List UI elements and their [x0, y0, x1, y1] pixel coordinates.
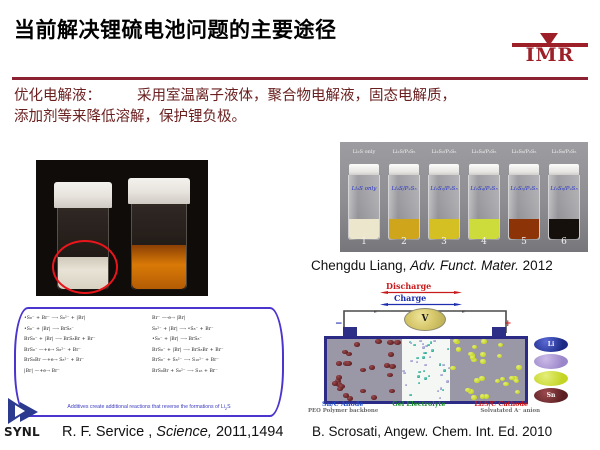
electron-label-right: e⁻ [462, 309, 468, 315]
reaction-equation: BrS₈Br —+e→ S₈²⁻ + Br⁻ [24, 356, 146, 367]
particle [336, 375, 342, 380]
reaction-columns: •S₈⁻ + Br⁻ ⟶ S₈²⁻ + |Br| •S₈⁻ + |Br| ⟶ B… [24, 314, 274, 377]
legend-item-sulfur [534, 371, 568, 386]
reaction-equation: •S₈⁻ + |Br| ⟶ BrS₈⁻ [152, 335, 274, 346]
particle [481, 339, 487, 343]
particle [500, 377, 506, 381]
particle [343, 393, 349, 398]
particle [437, 390, 440, 392]
particle [360, 389, 366, 394]
two-vials-photograph [36, 160, 208, 296]
particle [498, 343, 504, 347]
six-vial-2 [388, 164, 420, 240]
particle [465, 388, 471, 392]
particle [417, 375, 420, 377]
particle [442, 364, 445, 366]
reaction-equation: BrS₈⁻ + S₈²⁻ ⟶ S₁₆²⁻ + Br⁻ [152, 356, 274, 367]
caption-left: R. F. Service , Science, 2011,1494 [62, 424, 283, 440]
particle [480, 352, 486, 356]
particle [503, 382, 509, 386]
vial-cap [469, 164, 499, 175]
vial-cap [128, 178, 190, 204]
six-vial-3 [428, 164, 460, 240]
vial-cap [349, 164, 379, 175]
particle [431, 349, 434, 351]
particle [387, 340, 393, 345]
particle [480, 394, 486, 398]
caption-left-journal: Science, [156, 424, 212, 440]
particle [446, 380, 449, 382]
reaction-column-right: Br⁻ —-e→ |Br| S₈²⁻ + |Br| ⟶ •S₈⁻ + Br⁻ •… [152, 314, 274, 377]
particle [433, 340, 436, 342]
anion-label: Solvatated A⁻ anion [480, 408, 540, 414]
particle [439, 397, 442, 399]
six-vial-handwriting: Li₂S₈/P₂S₅ [548, 186, 580, 192]
vial-cap [389, 164, 419, 175]
particle [369, 365, 375, 370]
particle [389, 389, 395, 394]
particle [472, 345, 478, 349]
particle [430, 341, 433, 343]
body-label: 优化电解液： [14, 88, 101, 104]
gel-electrolyte-region [402, 339, 450, 401]
caption-right-top-author: Chengdu Liang, [311, 258, 406, 273]
particle [360, 368, 366, 373]
negative-terminal-sign: − [335, 319, 343, 329]
particle [516, 365, 522, 369]
imr-logo: IMR [512, 33, 588, 67]
particle [418, 371, 421, 373]
reaction-equation: BrS₈⁻ + |Br| ⟶ BrS₈Br + Br⁻ [24, 335, 146, 346]
particle [389, 364, 395, 369]
caption-left-year: 2011,1494 [216, 424, 283, 440]
imr-logo-letters: IMR [512, 46, 588, 65]
caption-left-author: R. F. Service , [62, 424, 152, 440]
particle [440, 374, 443, 376]
synl-logo: SYNL [2, 396, 62, 444]
charge-label: Charge [394, 293, 426, 303]
particle [456, 347, 462, 351]
particle [422, 346, 425, 348]
battery-cell-box [324, 336, 528, 404]
vial-liquid [429, 219, 459, 239]
anode-label: Sn/C Anode [322, 400, 363, 408]
vial-liquid [549, 219, 579, 239]
reaction-equation: BrS₈⁻ + |Br| ⟶ BrS₈Br + Br⁻ [152, 346, 274, 357]
reaction-equation: •S₈⁻ + Br⁻ ⟶ S₈²⁻ + |Br| [24, 314, 146, 325]
particle [497, 354, 503, 358]
particle [354, 342, 360, 347]
particle [410, 360, 413, 362]
reaction-equation: Br⁻ —-e→ |Br| [152, 314, 274, 325]
voltmeter-icon: V [404, 308, 446, 331]
particle [450, 366, 456, 370]
reaction-equation: S₈²⁻ + |Br| ⟶ •S₈⁻ + Br⁻ [152, 325, 274, 336]
six-vial-handwriting: Li₂S₄/P₂S₅ [468, 186, 500, 192]
vial-liquid [349, 219, 379, 239]
particle [440, 387, 443, 389]
particle [479, 376, 485, 380]
six-vial-label: Li₂S₈/P₂S₅ [542, 149, 586, 155]
particle [515, 390, 521, 394]
particle [409, 394, 412, 396]
six-vial-label: Li₂S/P₂S₅ [382, 149, 426, 155]
vial-cap [509, 164, 539, 175]
particle [480, 359, 486, 363]
lithium-sulfur-battery-schematic: Discharge Charge e⁻ e⁻ V − + Li Sn Sn/C … [302, 281, 588, 416]
particle [422, 356, 425, 358]
particle [403, 372, 406, 374]
particle [423, 370, 426, 372]
particle [514, 379, 520, 383]
vial-cap [429, 164, 459, 175]
vial-cap [549, 164, 579, 175]
particle [447, 348, 450, 350]
note-tail: S [227, 404, 230, 410]
legend-item-sn: Sn [534, 388, 568, 403]
cathode-label: Li₂S/C Cathode [474, 400, 528, 408]
caption-right-top-journal: Adv. Funct. Mater. [410, 258, 519, 273]
six-vial-label: Li₂S₂/P₂S₅ [422, 149, 466, 155]
charge-arrow-icon [380, 303, 462, 306]
six-vial-label: Li₂S only [342, 149, 386, 155]
particle [336, 361, 342, 366]
red-highlight-circle [52, 240, 118, 294]
six-vials-photograph: Li₂S only Li₂S only 1 Li₂S/P₂S₅ Li₂S/P₂S… [340, 142, 588, 252]
six-vial-number: 3 [428, 237, 460, 247]
particle [387, 373, 393, 378]
reaction-equation: |Br| —+e→ Br⁻ [24, 367, 146, 378]
vial-liquid [389, 219, 419, 239]
six-vial-handwriting: Li₂S only [348, 186, 380, 192]
vial-amber-solution [128, 178, 190, 290]
legend-item-li: Li [534, 337, 568, 352]
synl-arrow-icon [6, 396, 58, 426]
six-vial-handwriting: Li₂S/P₂S₅ [388, 186, 420, 192]
six-vial-number: 5 [508, 237, 540, 247]
reaction-equation: BrS₈Br + S₈²⁻ ⟶ S₁₆ + Br⁻ [152, 367, 274, 378]
particle [413, 344, 416, 346]
particle [405, 384, 408, 386]
six-vial-1 [348, 164, 380, 240]
electron-label-left: e⁻ [374, 309, 380, 315]
legend-sub-row-1: PEO Polymer backbone Solvatated A⁻ anion [308, 408, 540, 414]
reaction-column-left: •S₈⁻ + Br⁻ ⟶ S₈²⁻ + |Br| •S₈⁻ + |Br| ⟶ B… [24, 314, 146, 377]
particle [443, 369, 446, 371]
synl-logo-text: SYNL [4, 425, 40, 439]
vial-liquid [132, 245, 186, 289]
particle [416, 357, 419, 359]
page-title: 当前解决锂硫电池问题的主要途径 [14, 14, 337, 44]
particle [442, 389, 445, 391]
anode-region [327, 339, 402, 401]
title-divider [12, 77, 588, 80]
six-vial-number: 2 [388, 237, 420, 247]
reaction-equation: •S₈⁻ + |Br| ⟶ BrS₈⁻ [24, 325, 146, 336]
particle [418, 382, 421, 384]
six-vial-4 [468, 164, 500, 240]
body-text-block: 优化电解液：采用室温离子液体，聚合物电解液，固态电解质， 添加剂等来降低溶解，保… [14, 86, 594, 128]
particle [375, 339, 381, 344]
particle [471, 395, 477, 399]
six-vial-handwriting: Li₂S₆/P₂S₅ [508, 186, 540, 192]
gel-electrolyte-label: Gel Electrolyte [392, 400, 445, 408]
particle [429, 356, 432, 358]
particle [384, 363, 390, 368]
six-vial-5 [508, 164, 540, 240]
body-line-2: 添加剂等来降低溶解，保护锂负极。 [14, 109, 246, 125]
six-vial-6 [548, 164, 580, 240]
particle [422, 343, 425, 345]
body-line-1: 采用室温离子液体，聚合物电解液，固态电解质， [137, 88, 456, 104]
vial-cap [54, 182, 112, 208]
cathode-region [450, 339, 525, 401]
particle-legend: Li Sn [534, 337, 570, 405]
particle [371, 395, 377, 400]
six-vial-number: 6 [548, 237, 580, 247]
particle [410, 342, 413, 344]
six-vial-label: Li₂S₄/P₂S₅ [462, 149, 506, 155]
particle [345, 361, 351, 366]
particle [423, 352, 426, 354]
particle [424, 377, 427, 379]
particle [416, 361, 419, 363]
particle [427, 344, 430, 346]
particle [428, 375, 431, 377]
six-vial-number: 4 [468, 237, 500, 247]
particle [337, 387, 343, 392]
particle [424, 364, 427, 366]
caption-right-top-year: 2012 [523, 258, 553, 273]
particle [332, 381, 338, 386]
particle [388, 352, 394, 357]
reaction-equation: BrS₈⁻ —+e→ S₈²⁻ + Br⁻ [24, 346, 146, 357]
particle [394, 340, 400, 345]
six-vial-label: Li₂S₆/P₂S₅ [502, 149, 546, 155]
peo-backbone-label: PEO Polymer backbone [308, 408, 378, 414]
caption-right-bottom: B. Scrosati, Angew. Chem. Int. Ed. 2010 [312, 424, 552, 439]
discharge-label: Discharge [386, 281, 431, 291]
six-vial-number: 1 [348, 237, 380, 247]
note-text: Additives create additional reactions th… [67, 404, 224, 410]
vial-liquid [469, 219, 499, 239]
legend-item-polysulfide [534, 354, 568, 369]
particle [419, 340, 422, 342]
particle [439, 363, 442, 365]
vial-liquid [509, 219, 539, 239]
electrode-labels-row: Sn/C Anode Gel Electrolyte Li₂S/C Cathod… [322, 400, 528, 408]
caption-right-top: Chengdu Liang, Adv. Funct. Mater. 2012 [311, 258, 553, 273]
six-vial-handwriting: Li₂S₂/P₂S₅ [428, 186, 460, 192]
